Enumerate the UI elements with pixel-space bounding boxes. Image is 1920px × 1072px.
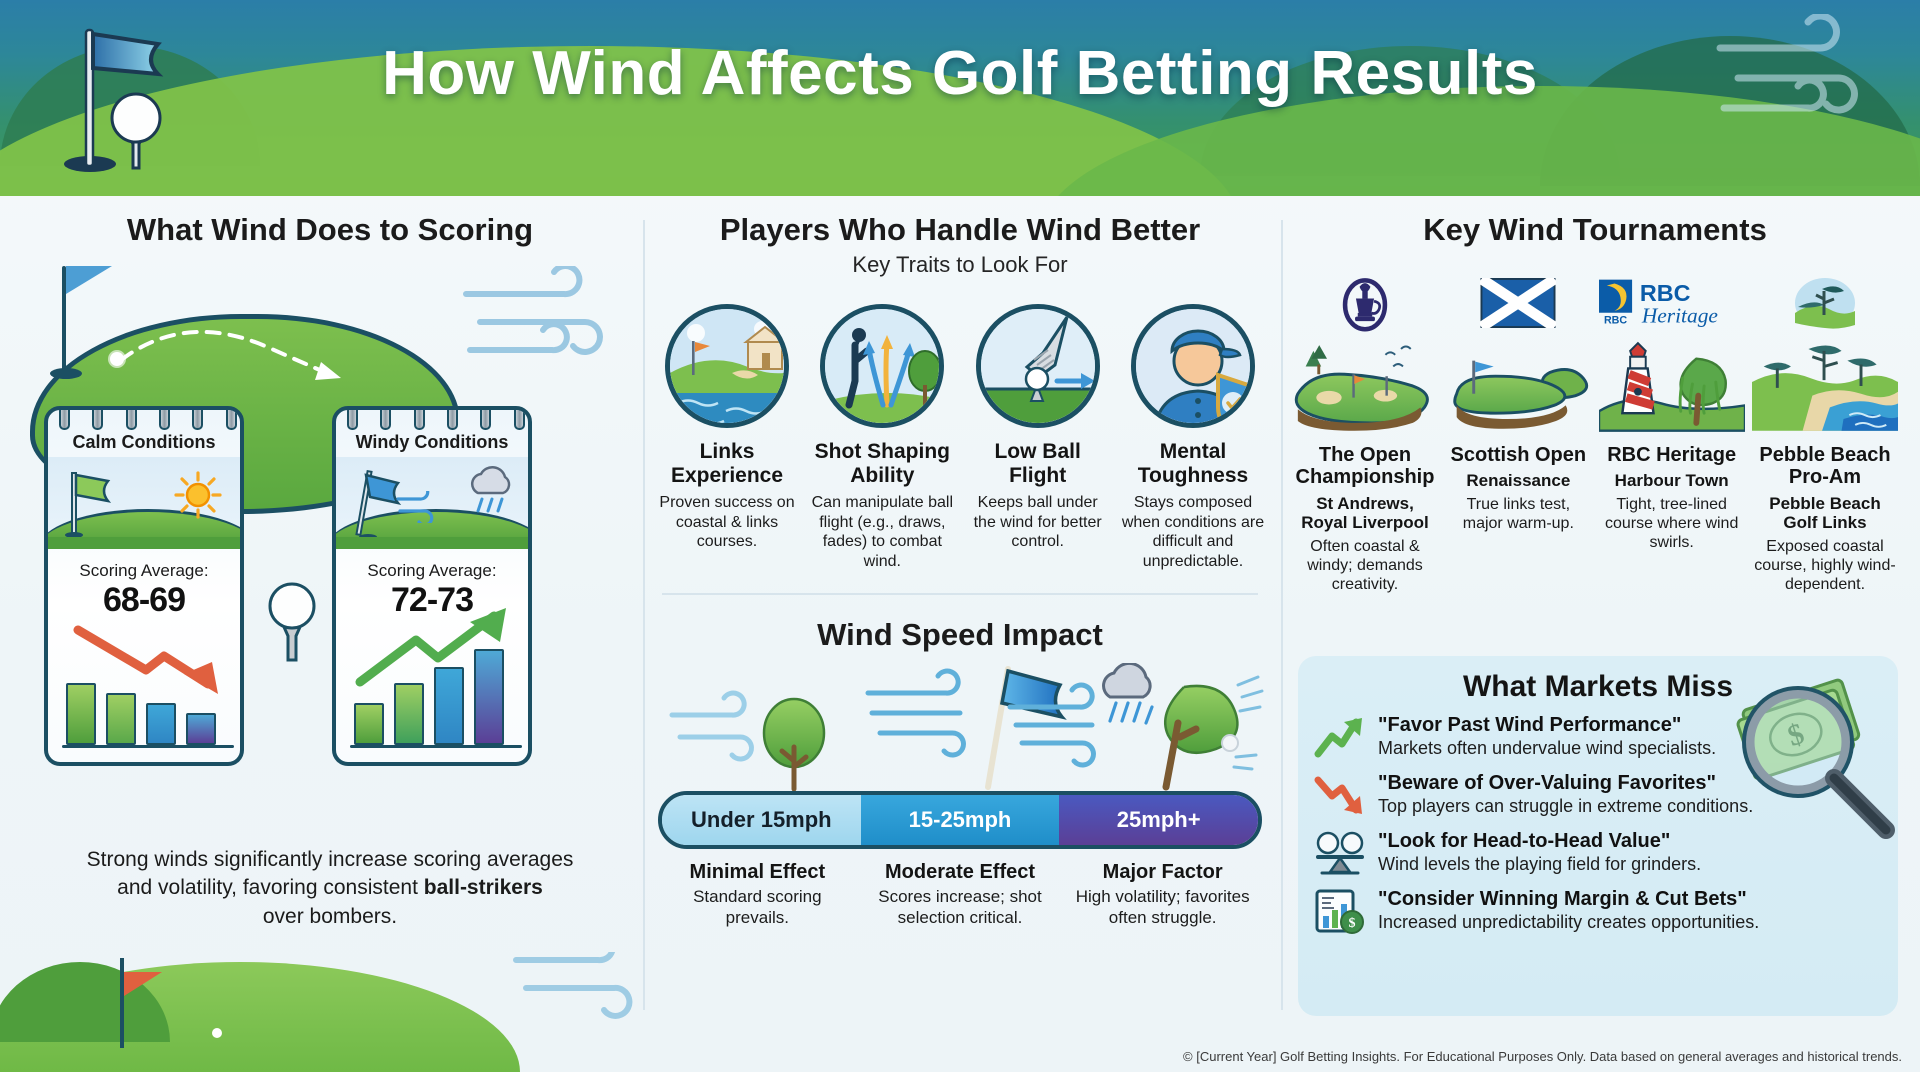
svg-text:RBC: RBC bbox=[1640, 280, 1691, 306]
tournament-name: Pebble Beach Pro-Am bbox=[1752, 444, 1898, 489]
header-banner: How Wind Affects Golf Betting Results bbox=[0, 0, 1920, 196]
tournament-venue: Renaissance bbox=[1445, 471, 1591, 491]
section-title-scoring: What Wind Does to Scoring bbox=[20, 212, 640, 248]
windy-card-scene bbox=[336, 457, 528, 549]
scoring-note-bold: ball-strikers bbox=[424, 876, 543, 899]
wind-legend-desc: Scores increase; shot selection critical… bbox=[867, 887, 1054, 928]
green-scene: Calm Conditions bbox=[20, 256, 640, 726]
trait-mental-toughness: MentalToughness Stays composed when cond… bbox=[1120, 304, 1266, 571]
tournament-pebble-beach: Pebble Beach Pro-Am Pebble Beach Golf Li… bbox=[1752, 272, 1898, 594]
scoring-note-line3: over bombers. bbox=[263, 905, 397, 928]
tournament-venue: Pebble Beach Golf Links bbox=[1752, 494, 1898, 533]
blue-flag-icon bbox=[66, 266, 112, 294]
wind-legend-heading: Major Factor bbox=[1069, 861, 1256, 884]
iron-club-ball-icon bbox=[976, 304, 1100, 428]
tournament-name: RBC Heritage bbox=[1599, 444, 1745, 466]
red-flag-icon bbox=[124, 972, 162, 996]
coastal-links-course-icon bbox=[665, 304, 789, 428]
rbc-heritage-logo: RBC RBC Heritage bbox=[1599, 272, 1745, 334]
magnifier-money-icon: $ bbox=[1714, 666, 1898, 856]
wind-swirl-icon bbox=[510, 952, 660, 1026]
svg-text:$: $ bbox=[1349, 916, 1356, 931]
tournament-desc: Exposed coastal course, highly wind-depe… bbox=[1752, 537, 1898, 595]
tournament-desc: Tight, tree-lined course where wind swir… bbox=[1599, 495, 1745, 553]
tournament-desc: Often coastal & windy; demands creativit… bbox=[1292, 537, 1438, 595]
coastal-cliff-icon bbox=[1752, 336, 1898, 432]
tournament-venue: Harbour Town bbox=[1599, 471, 1745, 491]
spiral-binding bbox=[336, 406, 532, 430]
footer-copyright: © [Current Year] Golf Betting Insights. … bbox=[1183, 1049, 1902, 1064]
markets-miss-heading: "Consider Winning Margin & Cut Bets" bbox=[1378, 888, 1882, 911]
section-title-players: Players Who Handle Wind Better bbox=[648, 212, 1272, 248]
scoring-note-line2: and volatility, favoring consistent bbox=[117, 876, 424, 899]
markets-miss-panel: What Markets Miss $ bbox=[1298, 656, 1898, 1016]
sun-icon bbox=[174, 471, 222, 519]
tournament-name: The Open Championship bbox=[1292, 444, 1438, 489]
claret-jug-icon bbox=[1292, 272, 1438, 334]
trait-low-ball-flight: Low BallFlight Keeps ball under the wind… bbox=[965, 304, 1111, 571]
column-scoring: What Wind Does to Scoring bbox=[20, 196, 640, 1072]
scotland-saltire-flag-icon bbox=[1445, 272, 1591, 334]
spiral-binding bbox=[48, 406, 244, 430]
calm-bar-chart bbox=[62, 628, 234, 748]
tournament-rbc-heritage: RBC RBC Heritage bbox=[1599, 272, 1745, 594]
divider-left bbox=[643, 220, 645, 1010]
bottom-course-scene bbox=[0, 952, 660, 1072]
trait-name: Shot ShapingAbility bbox=[809, 440, 955, 487]
wind-legend-desc: Standard scoring prevails. bbox=[664, 887, 851, 928]
markets-miss-desc: Wind levels the playing field for grinde… bbox=[1378, 854, 1882, 876]
wind-legend-item: Major Factor High volatility; favorites … bbox=[1061, 861, 1264, 928]
calm-score-value: 68-69 bbox=[48, 581, 240, 620]
trend-down-red-icon bbox=[1314, 772, 1366, 818]
tournament-desc: True links test, major warm-up. bbox=[1445, 495, 1591, 533]
markets-miss-item: $ "Consider Winning Margin & Cut Bets" I… bbox=[1314, 888, 1882, 934]
trait-desc: Keeps ball under the wind for better con… bbox=[965, 493, 1111, 552]
golf-ball-icon bbox=[212, 1028, 222, 1038]
wind-speed-bar: Under 15mph 15-25mph 25mph+ bbox=[658, 791, 1262, 849]
tournaments-row: The Open Championship St Andrews, Royal … bbox=[1288, 272, 1902, 594]
calm-conditions-card: Calm Conditions bbox=[44, 406, 244, 766]
scoring-note: Strong winds significantly increase scor… bbox=[30, 846, 630, 931]
trait-desc: Can manipulate ball flight (e.g., draws,… bbox=[809, 493, 955, 571]
trend-up-green-icon bbox=[1314, 714, 1366, 760]
green-flag-icon bbox=[64, 469, 114, 541]
wind-speed-legend: Minimal Effect Standard scoring prevails… bbox=[648, 861, 1272, 928]
divider-right bbox=[1281, 220, 1283, 1010]
wind-legend-item: Moderate Effect Scores increase; shot se… bbox=[859, 861, 1062, 928]
trait-links-experience: LinksExperience Proven success on coasta… bbox=[654, 304, 800, 571]
svg-text:RBC: RBC bbox=[1604, 314, 1627, 326]
section-title-tournaments: Key Wind Tournaments bbox=[1288, 212, 1902, 248]
scoring-note-line1: Strong winds significantly increase scor… bbox=[87, 848, 574, 871]
tournament-name: Scottish Open bbox=[1445, 444, 1591, 466]
links-fairway-flag-icon bbox=[1445, 336, 1591, 432]
windy-bar-chart bbox=[350, 628, 522, 748]
page-title: How Wind Affects Golf Betting Results bbox=[0, 38, 1920, 109]
windy-conditions-card: Windy Conditions bbox=[332, 406, 532, 766]
wind-range-segment[interactable]: 15-25mph bbox=[861, 795, 1060, 845]
wind-range-segment[interactable]: Under 15mph bbox=[662, 795, 861, 845]
breeze-tree-icon bbox=[668, 681, 868, 791]
trait-desc: Stays composed when conditions are diffi… bbox=[1120, 493, 1266, 571]
trait-name: Low BallFlight bbox=[965, 440, 1111, 487]
bar-chart-dollar-icon: $ bbox=[1314, 888, 1366, 934]
svg-text:Heritage: Heritage bbox=[1640, 303, 1718, 327]
trait-desc: Proven success on coastal & links course… bbox=[654, 493, 800, 552]
links-green-birds-icon bbox=[1292, 336, 1438, 432]
arrow-up-green-icon bbox=[354, 602, 524, 696]
golfer-shield-icon bbox=[1131, 304, 1255, 428]
tournament-the-open: The Open Championship St Andrews, Royal … bbox=[1292, 272, 1438, 594]
wind-swirl-icon bbox=[460, 266, 640, 376]
wind-range-segment[interactable]: 25mph+ bbox=[1059, 795, 1258, 845]
trait-shot-shaping: Shot ShapingAbility Can manipulate ball … bbox=[809, 304, 955, 571]
golfer-shot-shaping-icon bbox=[820, 304, 944, 428]
wind-swirl-icon bbox=[396, 491, 436, 523]
infographic-page: How Wind Affects Golf Betting Results Wh… bbox=[0, 0, 1920, 1072]
golf-ball-tee-icon bbox=[264, 578, 320, 664]
calm-card-title: Calm Conditions bbox=[48, 432, 240, 453]
section-subtitle-players: Key Traits to Look For bbox=[648, 252, 1272, 278]
hole-shadow bbox=[50, 368, 82, 379]
section-title-wind-speed: Wind Speed Impact bbox=[648, 617, 1272, 653]
wind-legend-desc: High volatility; favorites often struggl… bbox=[1069, 887, 1256, 928]
lighthouse-tree-icon bbox=[1599, 336, 1745, 432]
rain-cloud-wind-icon bbox=[464, 465, 520, 521]
balance-scale-golfballs-icon bbox=[1314, 830, 1366, 876]
arrow-down-red-icon bbox=[72, 624, 232, 698]
trait-name: MentalToughness bbox=[1120, 440, 1266, 487]
column-players: Players Who Handle Wind Better Key Trait… bbox=[648, 196, 1272, 1072]
calm-card-scene bbox=[48, 457, 240, 549]
windy-card-title: Windy Conditions bbox=[336, 432, 528, 453]
storm-tree-rain-icon bbox=[1006, 663, 1266, 791]
tournament-scottish-open: Scottish Open Renaissance True links tes… bbox=[1445, 272, 1591, 594]
trait-name: LinksExperience bbox=[654, 440, 800, 487]
wind-legend-heading: Minimal Effect bbox=[664, 861, 851, 884]
tournament-venue: St Andrews, Royal Liverpool bbox=[1292, 494, 1438, 533]
calm-score-label: Scoring Average: bbox=[48, 561, 240, 581]
windy-score-label: Scoring Average: bbox=[336, 561, 528, 581]
wind-legend-item: Minimal Effect Standard scoring prevails… bbox=[656, 861, 859, 928]
lone-cypress-icon bbox=[1752, 272, 1898, 334]
column-tournaments: Key Wind Tournaments bbox=[1288, 196, 1902, 1072]
wind-speed-scene bbox=[648, 663, 1272, 791]
wind-legend-heading: Moderate Effect bbox=[867, 861, 1054, 884]
traits-row: LinksExperience Proven success on coasta… bbox=[648, 304, 1272, 571]
divider-mid-horizontal bbox=[662, 593, 1258, 595]
markets-miss-desc: Increased unpredictability creates oppor… bbox=[1378, 912, 1882, 934]
ball-flight-arc-icon bbox=[115, 316, 365, 386]
body-grid: What Wind Does to Scoring bbox=[0, 196, 1920, 1072]
